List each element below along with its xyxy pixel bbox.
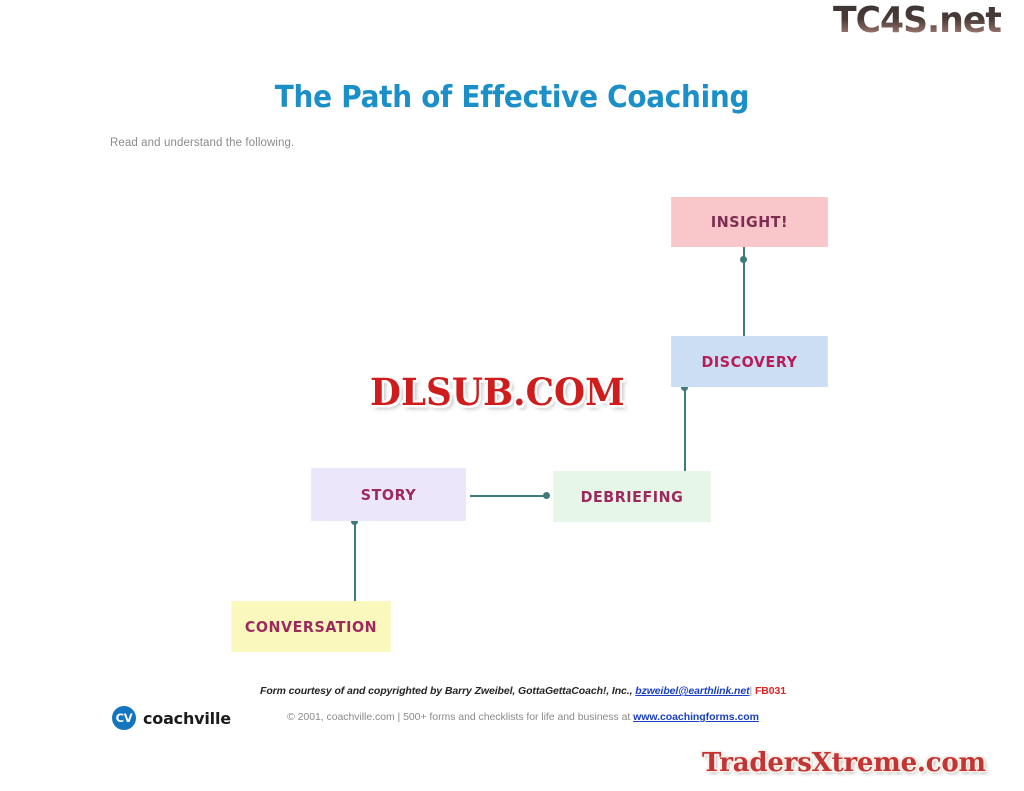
coachingforms-link[interactable]: www.coachingforms.com [633, 711, 759, 723]
node-insight[interactable]: INSIGHT! [671, 197, 828, 247]
node-debriefing-label: DEBRIEFING [581, 488, 684, 506]
footer-credit-text: Form courtesy of and copyrighted by Barr… [260, 685, 635, 697]
connector-debriefing-to-discovery [684, 387, 686, 471]
node-discovery[interactable]: DISCOVERY [671, 336, 828, 387]
tradersxtreme-watermark: TradersXtreme.com [702, 748, 986, 778]
node-debriefing[interactable]: DEBRIEFING [553, 471, 711, 522]
footer-copyright: © 2001, coachville.com | 500+ forms and … [0, 711, 1024, 723]
footer-credit: Form courtesy of and copyrighted by Barr… [0, 685, 1024, 697]
node-discovery-label: DISCOVERY [701, 353, 797, 371]
footer-form-code: FB031 [755, 685, 786, 697]
node-insight-label: INSIGHT! [711, 213, 788, 231]
footer-copyright-text: © 2001, coachville.com | 500+ forms and … [287, 711, 633, 723]
connector-dot-debriefing [543, 492, 550, 499]
dlsub-watermark: DLSUB.COM [370, 371, 625, 415]
footer-credit-separator: | [749, 685, 752, 697]
connector-dot-insight [740, 256, 747, 263]
node-story-label: STORY [361, 486, 416, 504]
node-conversation-label: CONVERSATION [245, 618, 377, 636]
node-conversation[interactable]: CONVERSATION [231, 601, 391, 652]
connector-story-to-debriefing [470, 495, 549, 497]
connector-conversation-to-story [354, 521, 356, 601]
node-story[interactable]: STORY [311, 468, 466, 521]
footer-credit-email-link[interactable]: bzweibel@earthlink.net [635, 685, 749, 697]
page-canvas: TC4S.net The Path of Effective Coaching … [0, 0, 1024, 791]
